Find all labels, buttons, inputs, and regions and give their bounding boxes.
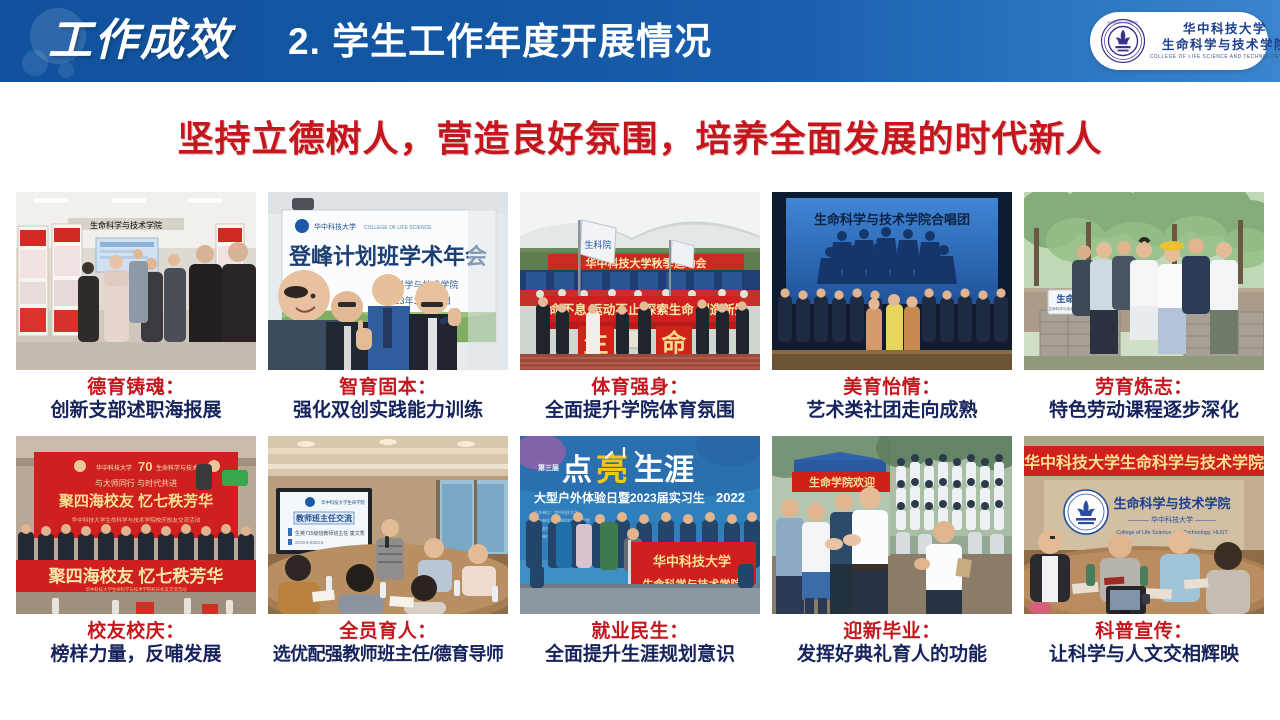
caption-heading: 劳育炼志：	[1024, 376, 1264, 399]
logo-university-name: 华中科技大学	[1183, 22, 1267, 37]
page-title: 2. 学生工作年度开展情况	[288, 14, 712, 70]
svg-text:聚四海校友 忆七秩芳华: 聚四海校友 忆七秩芳华	[48, 566, 224, 586]
svg-text:生涯: 生涯	[634, 454, 694, 487]
caption-subtitle: 榜样力量，反哺发展	[16, 643, 256, 666]
card-laoyu[interactable]: 生命小农园 生命科学与技术学院劳动教育实践基地	[1024, 192, 1264, 422]
card-caption: 就业民生： 全面提升生涯规划意识	[520, 620, 760, 666]
card-caption: 德育铸魂： 创新支部述职海报展	[16, 376, 256, 422]
photo-science-popularization-interview: 华中科技大学生命科学与技术学院 生命科学与技术学院 ——— 华中科技大学 ———…	[1024, 436, 1264, 614]
card-caption: 科普宣传： 让科学与人文交相辉映	[1024, 620, 1264, 666]
caption-subtitle: 全面提升生涯规划意识	[520, 643, 760, 666]
photo-grid-row: 生命科学与技术学院	[0, 192, 1280, 422]
svg-text:大型户外体验日暨2023届实习生: 大型户外体验日暨2023届实习生	[534, 490, 705, 505]
card-quanyuan[interactable]: 华中科技大学生命学院 教师班主任交流 生英715级班教师班主任 童文秀 2019…	[268, 436, 508, 666]
caption-subtitle: 发挥好典礼育人的功能	[772, 643, 1012, 666]
card-zhiyu[interactable]: 华中科技大学 COLLEGE OF LIFE SCIENCE 登峰计划班学术年会…	[268, 192, 508, 422]
caption-heading: 德育铸魂：	[16, 376, 256, 399]
card-deyu[interactable]: 生命科学与技术学院	[16, 192, 256, 422]
card-jiuye[interactable]: 第三届 点 亮 生涯 大型户外体验日暨2023届实习生 2022 主办单位：华中…	[520, 436, 760, 666]
svg-text:与大师同行 与时代共进: 与大师同行 与时代共进	[95, 478, 177, 488]
svg-text:2019.9-2023.6: 2019.9-2023.6	[295, 540, 324, 545]
svg-text:70: 70	[138, 459, 152, 474]
caption-subtitle: 选优配强教师班主任/德育导师	[268, 643, 508, 666]
photo-poster-exhibition: 生命科学与技术学院	[16, 192, 256, 370]
card-caption: 劳育炼志： 特色劳动课程逐步深化	[1024, 376, 1264, 422]
card-kepu[interactable]: 华中科技大学生命科学与技术学院 生命科学与技术学院 ——— 华中科技大学 ———…	[1024, 436, 1264, 666]
photo-welcome-graduation-ceremony: 生命学院欢迎	[772, 436, 1012, 614]
svg-text:生命科学与技术学院: 生命科学与技术学院	[90, 220, 162, 230]
svg-text:华中科技大学生命学院: 华中科技大学生命学院	[321, 499, 366, 506]
svg-text:COLLEGE OF LIFE SCIENCE: COLLEGE OF LIFE SCIENCE	[364, 225, 432, 231]
photo-choir-performance: 生命科学与技术学院合唱团	[772, 192, 1012, 370]
caption-heading: 就业民生：	[520, 620, 760, 643]
svg-text:华中科技大学: 华中科技大学	[653, 554, 731, 569]
svg-text:华中科技大学生命科学与技术学院校庆校友交流活动: 华中科技大学生命科学与技术学院校庆校友交流活动	[72, 516, 201, 524]
caption-subtitle: 创新支部述职海报展	[16, 399, 256, 422]
svg-text:第三届: 第三届	[538, 463, 559, 472]
photo-campus-farm: 生命小农园 生命科学与技术学院劳动教育实践基地	[1024, 192, 1264, 370]
card-yingxin[interactable]: 生命学院欢迎	[772, 436, 1012, 666]
caption-subtitle: 让科学与人文交相辉映	[1024, 643, 1264, 666]
card-caption: 迎新毕业： 发挥好典礼育人的功能	[772, 620, 1012, 666]
card-xiaoyou[interactable]: 华中科技大学 70 生命科学与技术学院 与大师同行 与时代共进 聚四海校友 忆七…	[16, 436, 256, 666]
svg-text:华中科技大学: 华中科技大学	[314, 222, 356, 231]
caption-subtitle: 强化双创实践能力训练	[268, 399, 508, 422]
svg-text:华中科技大学: 华中科技大学	[96, 464, 132, 472]
card-meiyu[interactable]: 生命科学与技术学院合唱团	[772, 192, 1012, 422]
slide-headline: 坚持立德树人，营造良好氛围，培养全面发展的时代新人	[0, 116, 1280, 162]
caption-heading: 体育强身：	[520, 376, 760, 399]
logo-text-block: 华中科技大学 生命科学与技术学院 COLLEGE OF LIFE SCIENCE…	[1150, 22, 1280, 61]
svg-text:生命学院欢迎: 生命学院欢迎	[809, 475, 875, 489]
caption-heading: 全员育人：	[268, 620, 508, 643]
university-emblem-icon: HUAZHONG UNIVERSITY	[1100, 18, 1146, 64]
photo-alumni-reunion: 华中科技大学 70 生命科学与技术学院 与大师同行 与时代共进 聚四海校友 忆七…	[16, 436, 256, 614]
college-logo: HUAZHONG UNIVERSITY 华中科技大学 生命科学与技术学院 COL…	[1090, 12, 1268, 70]
card-tiyu[interactable]: 华中科技大学秋季运动会	[520, 192, 760, 422]
header-kicker: 工作成效	[48, 11, 232, 71]
svg-text:HUAZHONG UNIVERSITY: HUAZHONG UNIVERSITY	[1107, 20, 1138, 24]
photo-grid: 生命科学与技术学院	[0, 192, 1280, 666]
caption-heading: 校友校庆：	[16, 620, 256, 643]
decorative-bubble-medium	[22, 50, 48, 76]
svg-text:教师班主任交流: 教师班主任交流	[295, 513, 352, 523]
svg-text:点: 点	[562, 454, 592, 487]
svg-text:生英715级班教师班主任 童文秀: 生英715级班教师班主任 童文秀	[295, 530, 365, 537]
svg-text:生命科学与技术学院合唱团: 生命科学与技术学院合唱团	[814, 212, 970, 227]
svg-text:华中科技大学生命科学与技术学院校庆校友交流活动: 华中科技大学生命科学与技术学院校庆校友交流活动	[86, 586, 188, 593]
photo-teacher-advisor-meeting: 华中科技大学生命学院 教师班主任交流 生英715级班教师班主任 童文秀 2019…	[268, 436, 508, 614]
caption-heading: 智育固本：	[268, 376, 508, 399]
svg-text:2022: 2022	[716, 490, 745, 505]
photo-grid-row: 华中科技大学 70 生命科学与技术学院 与大师同行 与时代共进 聚四海校友 忆七…	[0, 436, 1280, 666]
logo-english-name: COLLEGE OF LIFE SCIENCE AND TECHNOLOGY H…	[1150, 52, 1280, 61]
caption-subtitle: 全面提升学院体育氛围	[520, 399, 760, 422]
svg-text:华中科技大学生命科学与技术学院: 华中科技大学生命科学与技术学院	[1024, 453, 1264, 472]
card-caption: 美育怡情： 艺术类社团走向成熟	[772, 376, 1012, 422]
slide-header: 工作成效 2. 学生工作年度开展情况 HUAZHONG UNIVERSITY 华…	[0, 0, 1280, 82]
card-caption: 体育强身： 全面提升学院体育氛围	[520, 376, 760, 422]
photo-academic-conference-selfie: 华中科技大学 COLLEGE OF LIFE SCIENCE 登峰计划班学术年会…	[268, 192, 508, 370]
card-caption: 全员育人： 选优配强教师班主任/德育导师	[268, 620, 508, 666]
svg-text:聚四海校友 忆七秩芳华: 聚四海校友 忆七秩芳华	[58, 492, 213, 510]
logo-college-name: 生命科学与技术学院	[1162, 37, 1280, 53]
svg-text:登峰计划班学术年会: 登峰计划班学术年会	[288, 244, 487, 269]
card-caption: 智育固本： 强化双创实践能力训练	[268, 376, 508, 422]
caption-subtitle: 艺术类社团走向成熟	[772, 399, 1012, 422]
caption-heading: 迎新毕业：	[772, 620, 1012, 643]
caption-heading: 美育怡情：	[772, 376, 1012, 399]
svg-text:命: 命	[661, 329, 687, 358]
photo-sports-meet: 华中科技大学秋季运动会	[520, 192, 760, 370]
card-caption: 校友校庆： 榜样力量，反哺发展	[16, 620, 256, 666]
svg-text:生科院: 生科院	[584, 239, 611, 250]
svg-text:——— 华中科技大学 ———: ——— 华中科技大学 ———	[1128, 515, 1216, 524]
caption-subtitle: 特色劳动课程逐步深化	[1024, 399, 1264, 422]
caption-heading: 科普宣传：	[1024, 620, 1264, 643]
svg-text:生命科学与技术学院: 生命科学与技术学院	[1113, 496, 1230, 511]
photo-career-outdoor-event: 第三届 点 亮 生涯 大型户外体验日暨2023届实习生 2022 主办单位：华中…	[520, 436, 760, 614]
